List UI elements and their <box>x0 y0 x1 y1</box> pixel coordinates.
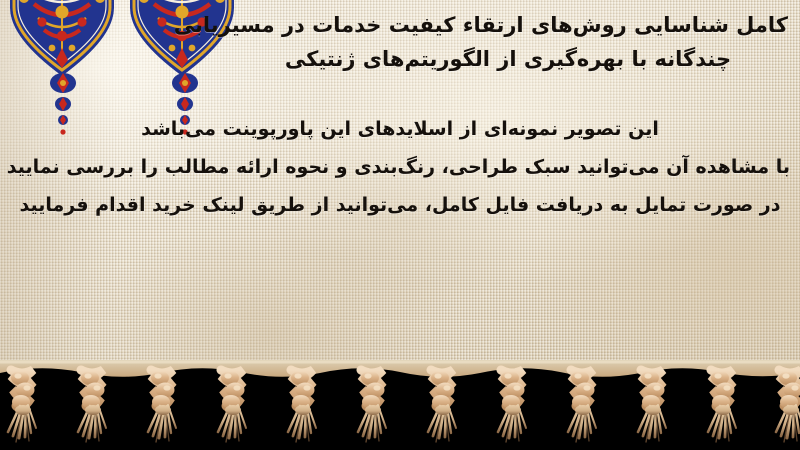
slide-body: این تصویر نمونه‌ای از اسلایدهای این پاور… <box>10 110 790 224</box>
slide-title: کامل شناسایی روش‌های ارتقاء کیفیت خدمات … <box>228 8 788 76</box>
slide-body-line-3: در صورت تمایل به دریافت فایل کامل، می‌تو… <box>10 186 790 224</box>
persian-medallion-ornament-left <box>8 0 116 78</box>
slide-title-line-2: چندگانه با بهره‌گیری از الگوریتم‌های ژنت… <box>228 42 788 76</box>
slide-body-line-2: با مشاهده آن می‌توانید سبک طراحی، رنگ‌بن… <box>10 148 790 186</box>
presentation-slide: کامل شناسایی روش‌های ارتقاء کیفیت خدمات … <box>0 0 800 450</box>
slide-title-line-1: کامل شناسایی روش‌های ارتقاء کیفیت خدمات … <box>228 8 788 42</box>
slide-body-line-1: این تصویر نمونه‌ای از اسلایدهای این پاور… <box>10 110 790 148</box>
knotted-tassel-fringe <box>0 360 800 450</box>
